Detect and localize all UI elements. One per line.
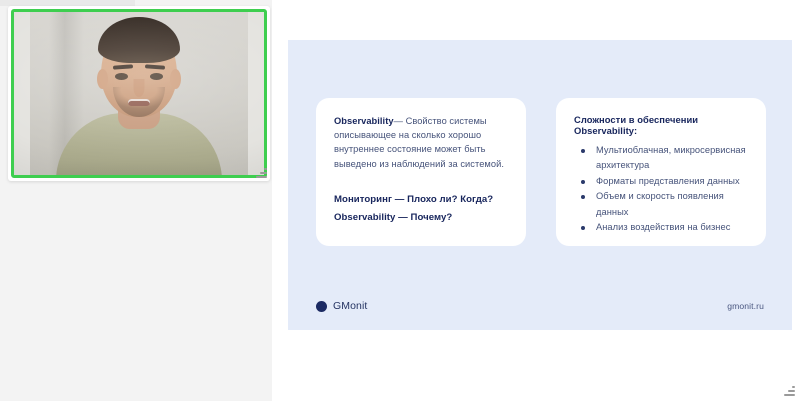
screenshare-resize-grip-icon[interactable] <box>784 385 795 396</box>
question-list: Мониторинг — Плохо ли? Когда? Observabil… <box>334 191 508 227</box>
webcam-tile[interactable] <box>8 6 270 181</box>
challenges-bullet-list: Мультиоблачная, микросервисная архитекту… <box>574 143 748 235</box>
presentation-slide: Observability— Свойство системы описываю… <box>288 40 792 330</box>
slide-footer: GMonit gmonit.ru <box>316 300 764 312</box>
challenges-card: Сложности в обеспечении Observability: М… <box>556 98 766 246</box>
brand-logo: GMonit <box>316 300 367 312</box>
video-call-screen: Observability— Свойство системы описываю… <box>0 0 800 401</box>
list-item: Мультиоблачная, микросервисная архитекту… <box>574 143 748 174</box>
challenges-heading: Сложности в обеспечении Observability: <box>574 114 748 136</box>
list-item: Анализ воздействия на бизнес <box>574 220 748 235</box>
list-item: Объем и скорость появления данных <box>574 189 748 220</box>
gmonit-circle-icon <box>316 301 327 312</box>
brand-name-label: GMonit <box>333 300 367 312</box>
observability-definition: Observability— Свойство системы описываю… <box>334 114 508 171</box>
list-item: Форматы представления данных <box>574 174 748 189</box>
active-speaker-border <box>11 9 267 178</box>
video-vignette <box>14 12 264 175</box>
definition-dash: — <box>394 116 403 126</box>
definition-term: Observability <box>334 116 394 126</box>
definition-card: Observability— Свойство системы описываю… <box>316 98 526 246</box>
webcam-resize-grip-icon[interactable] <box>256 167 267 178</box>
webcam-video-feed <box>14 12 264 175</box>
question-monitoring: Мониторинг — Плохо ли? Когда? <box>334 191 508 209</box>
site-url-label: gmonit.ru <box>727 301 764 311</box>
slide-card-row: Observability— Свойство системы описываю… <box>316 98 766 246</box>
screenshare-panel[interactable]: Observability— Свойство системы описываю… <box>272 0 800 401</box>
question-observability: Observability — Почему? <box>334 209 508 227</box>
